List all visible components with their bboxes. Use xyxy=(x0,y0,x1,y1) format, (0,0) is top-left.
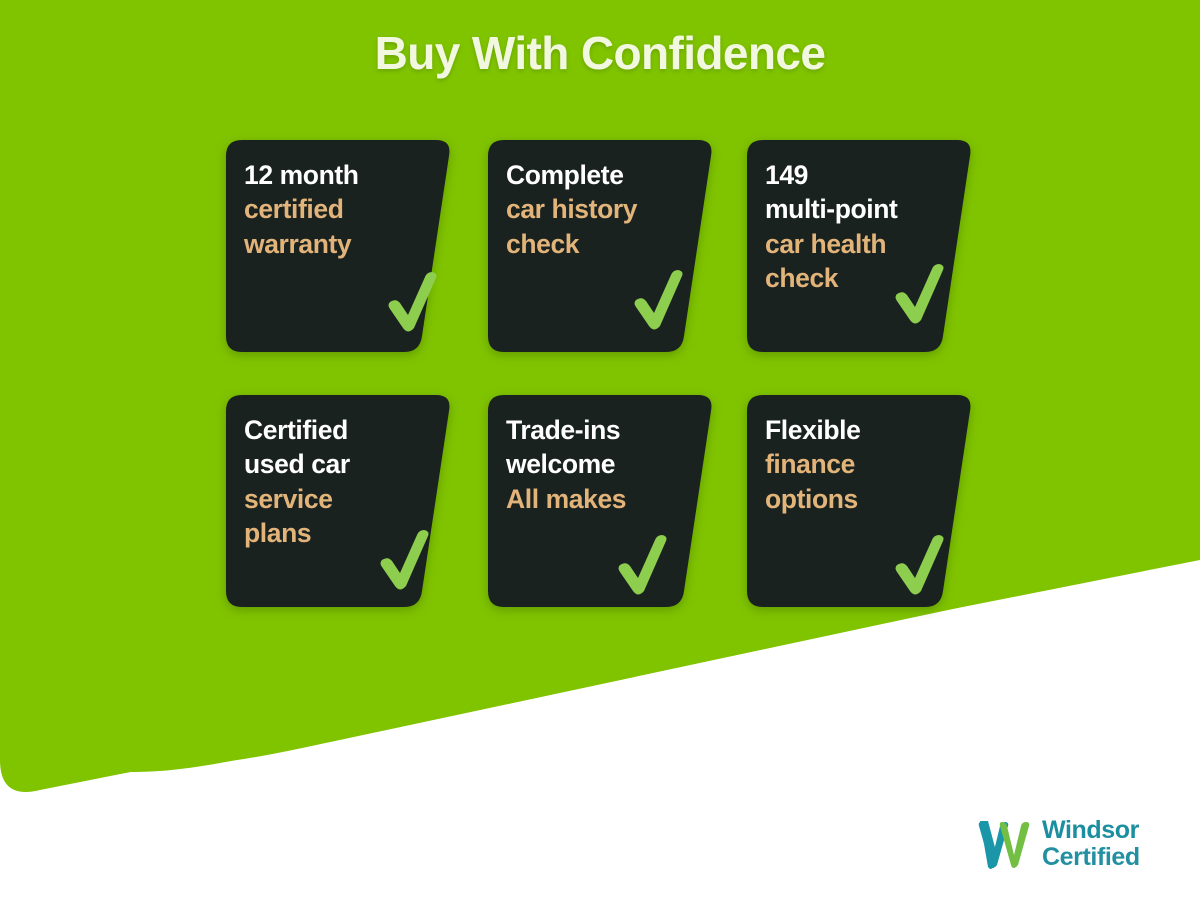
feature-card-row-2: Certified used car service plans Trade-i… xyxy=(226,395,982,607)
card-line-tan: warranty xyxy=(244,227,430,261)
check-icon xyxy=(386,272,440,334)
feature-card-service-plans[interactable]: Certified used car service plans xyxy=(226,395,452,607)
feature-card-finance-options[interactable]: Flexible finance options xyxy=(747,395,973,607)
card-line-white: multi-point xyxy=(765,192,951,226)
card-line-white: Flexible xyxy=(765,413,951,447)
promo-banner: Buy With Confidence 12 month certified w… xyxy=(0,0,1200,900)
logo-line-1: Windsor xyxy=(1042,816,1139,844)
windsor-w-icon xyxy=(975,815,1033,873)
feature-card-grid: 12 month certified warranty Complete car… xyxy=(226,140,982,650)
card-line-white: Certified xyxy=(244,413,430,447)
card-line-white: Complete xyxy=(506,158,692,192)
card-line-tan: options xyxy=(765,482,951,516)
card-line-tan: car health xyxy=(765,227,951,261)
check-icon xyxy=(378,530,432,592)
card-line-white: welcome xyxy=(506,447,692,481)
card-line-white: used car xyxy=(244,447,430,481)
feature-card-car-health-check[interactable]: 149 multi-point car health check xyxy=(747,140,973,352)
logo-wordmark: Windsor Certified xyxy=(1042,817,1140,871)
feature-card-row-1: 12 month certified warranty Complete car… xyxy=(226,140,982,352)
check-icon xyxy=(632,270,686,332)
card-line-tan: check xyxy=(506,227,692,261)
feature-card-car-history-check[interactable]: Complete car history check xyxy=(488,140,714,352)
card-text: Flexible finance options xyxy=(765,413,951,516)
card-line-tan: finance xyxy=(765,447,951,481)
feature-card-trade-ins[interactable]: Trade-ins welcome All makes xyxy=(488,395,714,607)
feature-card-certified-warranty[interactable]: 12 month certified warranty xyxy=(226,140,452,352)
card-line-tan: All makes xyxy=(506,482,692,516)
card-line-white: 149 xyxy=(765,158,951,192)
card-text: Trade-ins welcome All makes xyxy=(506,413,692,516)
check-icon xyxy=(893,264,947,326)
card-line-tan: car history xyxy=(506,192,692,226)
card-line-white: 12 month xyxy=(244,158,430,192)
card-line-white: Trade-ins xyxy=(506,413,692,447)
card-line-tan: certified xyxy=(244,192,430,226)
card-line-tan: service xyxy=(244,482,430,516)
card-text: 12 month certified warranty xyxy=(244,158,430,261)
check-icon xyxy=(893,535,947,597)
card-text: Complete car history check xyxy=(506,158,692,261)
check-icon xyxy=(616,535,670,597)
logo-line-2: Certified xyxy=(1042,844,1140,871)
page-title: Buy With Confidence xyxy=(0,26,1200,80)
windsor-certified-logo[interactable]: Windsor Certified xyxy=(975,808,1165,880)
